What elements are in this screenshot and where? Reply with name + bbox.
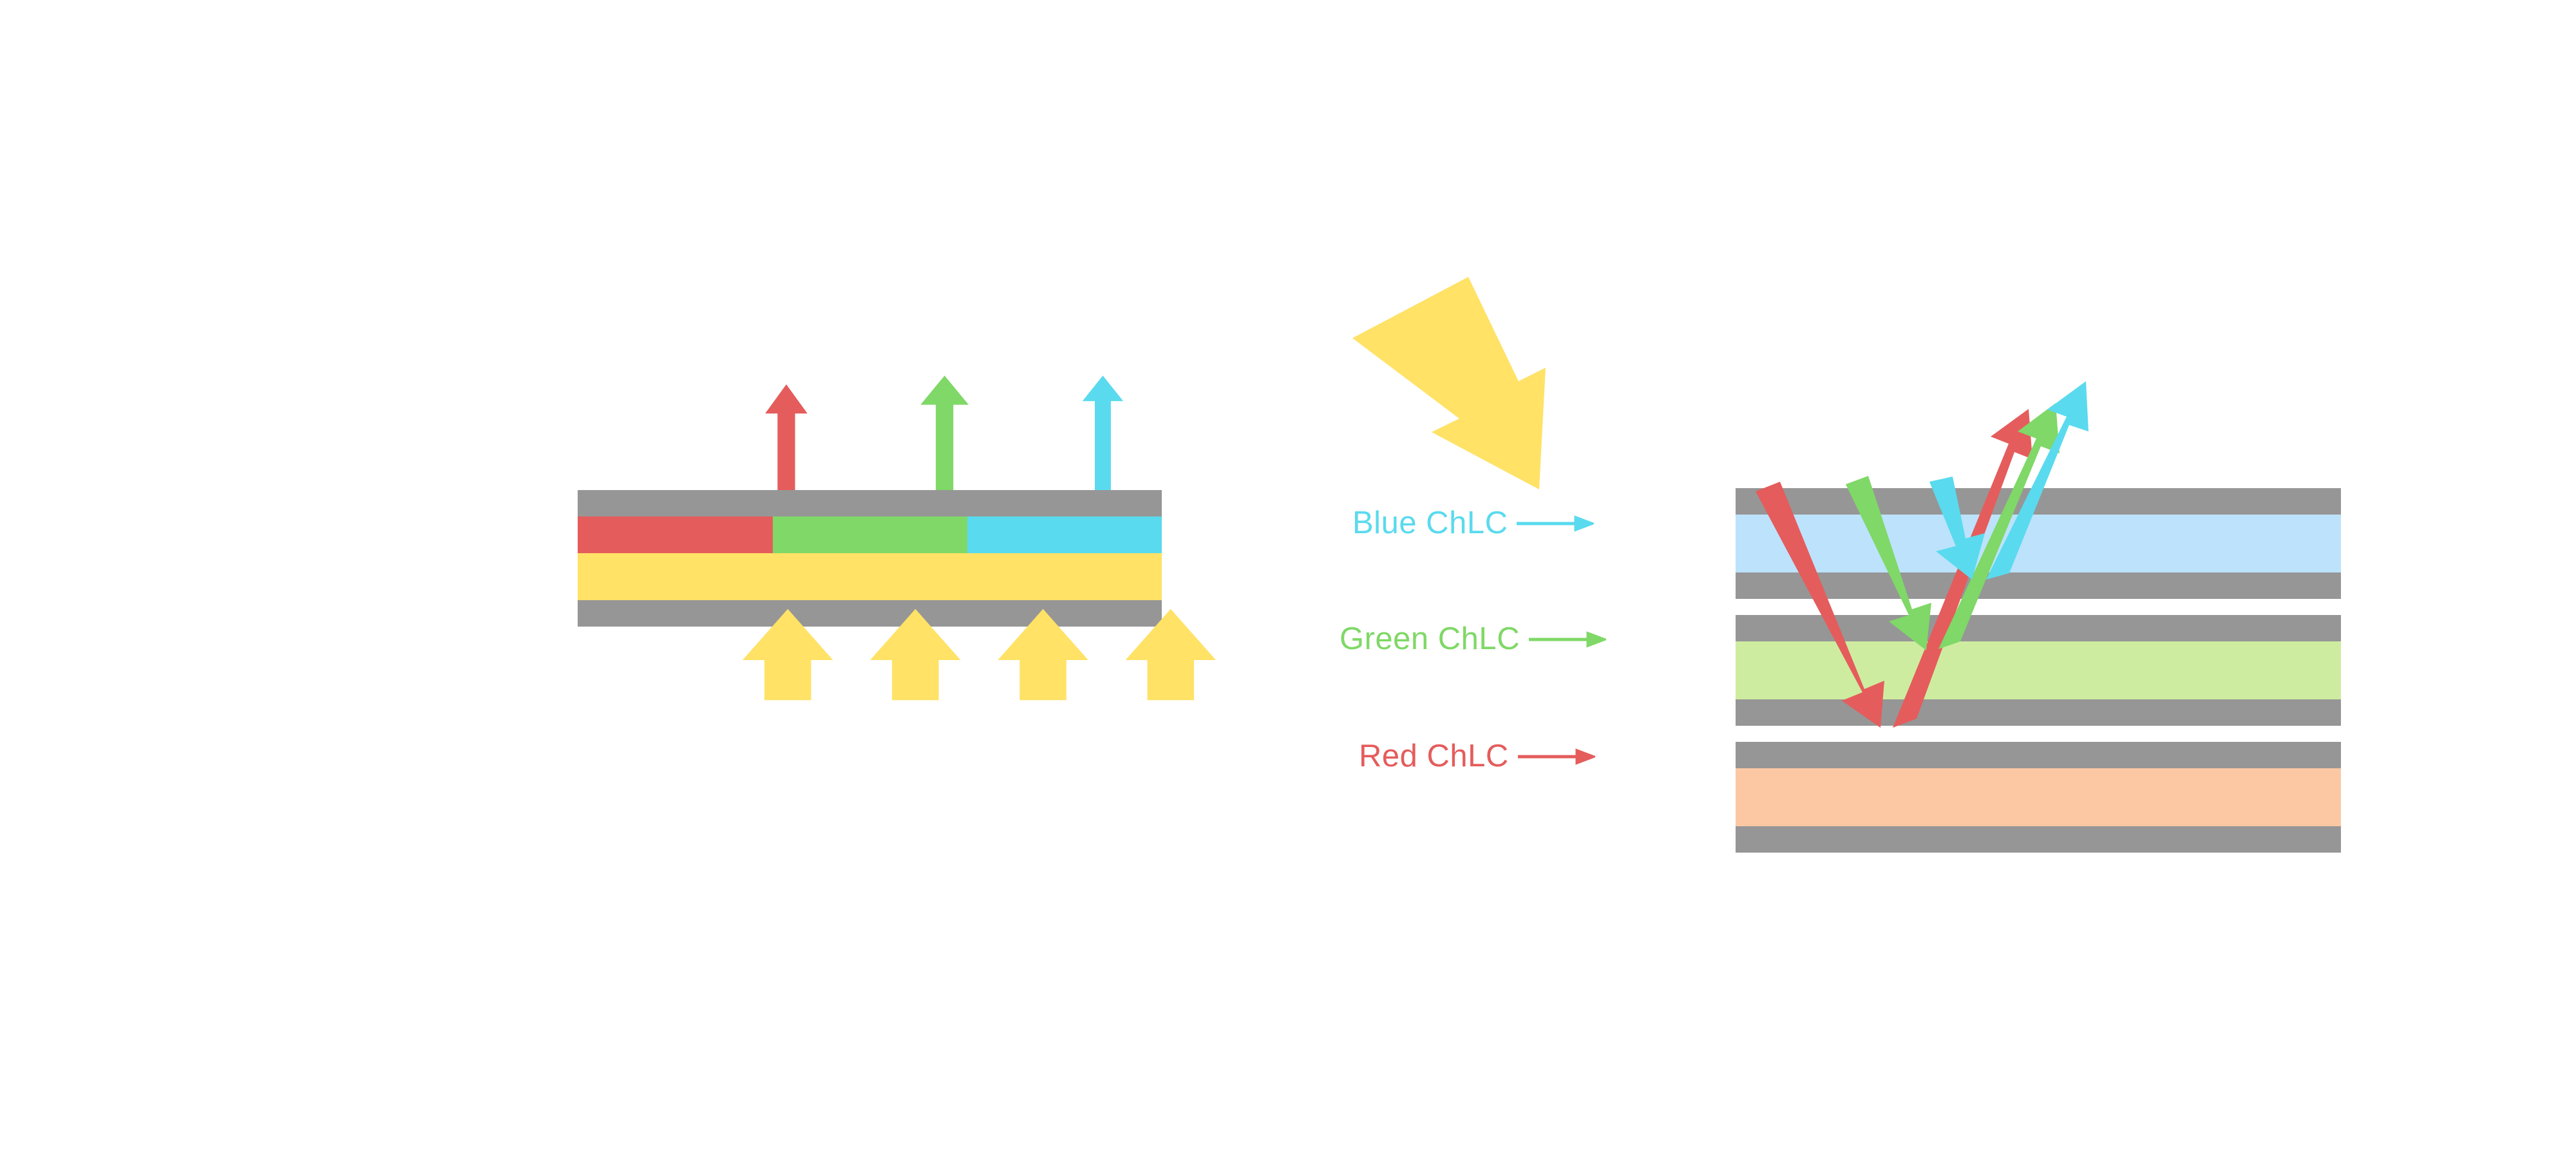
green-cell-bottom-electrode <box>1736 699 2341 726</box>
red-subpixel <box>578 516 773 553</box>
label-green-chlc-text: Green ChLC <box>1340 623 1520 655</box>
gap-2 <box>1736 726 2341 742</box>
diagram-canvas: Blue ChLC Green ChLC Red ChLC <box>0 0 2576 1154</box>
label-blue-chlc: Blue ChLC <box>1352 507 1594 539</box>
label-red-chlc: Red ChLC <box>1359 741 1595 772</box>
blue-chlc-layer <box>1736 515 2341 572</box>
green-chlc-layer <box>1736 641 2341 699</box>
blue-cell-top-electrode <box>1736 488 2341 515</box>
arrow-right-icon-blue <box>1517 514 1594 533</box>
left-layer-backlight <box>578 553 1162 600</box>
arrow-right-icon-green <box>1529 630 1606 649</box>
red-cell-top-electrode <box>1736 742 2341 768</box>
left-layer-bottom-electrode <box>578 600 1162 627</box>
left-layer-color-filter-row <box>578 516 1162 553</box>
arrow-right-icon-red <box>1518 747 1595 766</box>
left-layer-top-electrode <box>578 490 1162 516</box>
left-stack <box>578 490 1162 627</box>
reflective-stack-panel: Blue ChLC Green ChLC Red ChLC <box>1352 277 2396 882</box>
red-chlc-layer <box>1736 768 2341 826</box>
green-cell-top-electrode <box>1736 615 2341 641</box>
label-green-chlc: Green ChLC <box>1340 623 1606 655</box>
ambient-light-arrow <box>1352 277 1546 489</box>
red-cell-bottom-electrode <box>1736 826 2341 853</box>
cyan-subpixel <box>967 516 1162 553</box>
blue-cell-bottom-electrode <box>1736 572 2341 599</box>
green-subpixel <box>773 516 967 553</box>
gap-1 <box>1736 599 2341 615</box>
label-blue-chlc-text: Blue ChLC <box>1352 507 1508 539</box>
emissive-stack-panel <box>535 303 1217 837</box>
right-stack <box>1736 488 2341 853</box>
label-red-chlc-text: Red ChLC <box>1359 741 1509 772</box>
